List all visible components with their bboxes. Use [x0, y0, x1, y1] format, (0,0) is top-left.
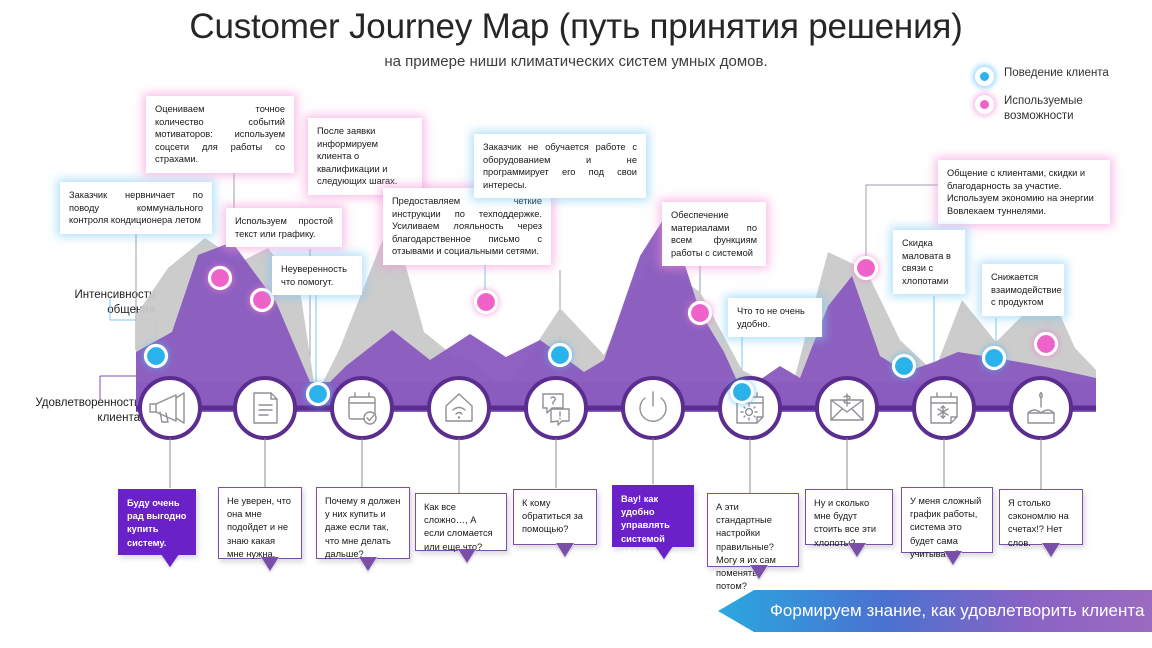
bubble-1-tail	[161, 554, 179, 567]
marker-capability-3[interactable]	[476, 292, 497, 313]
callout-box-12: Снижается взаимодействие с продуктом	[982, 264, 1064, 316]
marker-behavior-6[interactable]	[984, 348, 1005, 369]
bubble-5-text: К кому обратиться за помощью?	[522, 498, 583, 534]
bubble-9-text: У меня сложный график работы, система эт…	[910, 496, 981, 559]
bubble-7: А эти стандартные настройки правильные? …	[707, 493, 799, 567]
bubble-10-text: Я столько сэкономлю на счетах!? Нет слов…	[1008, 498, 1069, 548]
bubble-4-text: Как все сложно…, А если сломается или ещ…	[424, 502, 493, 552]
marker-capability-4[interactable]	[690, 303, 711, 324]
bubble-8-text: Ну и сколько мне будут стоить все эти хл…	[814, 498, 876, 548]
callout-box-10: Общение с клиентами, скидки и благодарно…	[938, 160, 1110, 224]
bubble-8-tail	[848, 544, 866, 557]
bubble-10: Я столько сэкономлю на счетах!? Нет слов…	[999, 489, 1083, 545]
stage-node-1[interactable]	[140, 378, 200, 438]
stage-node-9[interactable]	[914, 378, 974, 438]
bubble-6-tail	[655, 546, 673, 559]
customer-journey-map: Customer Journey Map (путь принятия реше…	[0, 0, 1152, 648]
marker-behavior-4[interactable]	[732, 382, 753, 403]
callout-box-7: Заказчик не обучается работе с оборудова…	[474, 134, 646, 198]
callout-box-8: Обеспечение материалами по всем функциям…	[662, 202, 766, 266]
bubble-2-tail	[261, 558, 279, 571]
marker-behavior-3[interactable]	[550, 345, 571, 366]
callout-box-5: Неуверенность что помогут.	[272, 256, 362, 295]
bubble-stems	[170, 438, 1041, 494]
callout-box-9: Что то не очень удобно.	[728, 298, 822, 337]
bubble-9-tail	[944, 552, 962, 565]
stage-node-2[interactable]	[235, 378, 295, 438]
bubble-3-tail	[359, 558, 377, 571]
banner-text: Формируем знание, как удовлетворить клие…	[718, 601, 1144, 621]
bubble-10-tail	[1042, 544, 1060, 557]
bubble-6: Вау! как удобно управлять системой удале…	[612, 485, 694, 547]
bottom-banner: Формируем знание, как удовлетворить клие…	[718, 590, 1152, 632]
bubble-4-tail	[458, 550, 476, 563]
callout-box-4: После заявки информируем клиента о квали…	[308, 118, 422, 195]
bubble-8: Ну и сколько мне будут стоить все эти хл…	[805, 489, 893, 545]
bubble-1: Буду очень рад выгодно купить систему.	[118, 489, 196, 555]
marker-capability-1[interactable]	[210, 268, 231, 289]
stage-node-6[interactable]	[623, 378, 683, 438]
bubble-5: К кому обратиться за помощью?	[513, 489, 597, 545]
bubble-2: Не уверен, что она мне подойдет и не зна…	[218, 487, 302, 559]
callout-box-3: Используем простой текст или графику.	[226, 208, 342, 247]
callout-box-11: Скидка маловата в связи с хлопотами	[893, 230, 965, 294]
bubble-3: Почему я должен у них купить и даже если…	[316, 487, 410, 559]
bubble-1-text: Буду очень рад выгодно купить систему.	[127, 498, 187, 548]
marker-capability-5[interactable]	[856, 258, 877, 279]
stage-node-3[interactable]	[332, 378, 392, 438]
bubble-4: Как все сложно…, А если сломается или ещ…	[415, 493, 507, 551]
marker-capability-2[interactable]	[252, 290, 273, 311]
marker-behavior-2[interactable]	[308, 384, 329, 405]
stage-node-10[interactable]	[1011, 378, 1071, 438]
marker-capability-6[interactable]	[1036, 334, 1057, 355]
callout-box-1: Заказчик нервничает по поводу коммунальн…	[60, 182, 212, 234]
bubble-5-tail	[556, 544, 574, 557]
bubble-7-tail	[750, 566, 768, 579]
bubble-9: У меня сложный график работы, система эт…	[901, 487, 993, 553]
marker-behavior-5[interactable]	[894, 356, 915, 377]
callout-box-2: Оцениваем точное количество событий моти…	[146, 96, 294, 173]
bubble-3-text: Почему я должен у них купить и даже если…	[325, 496, 400, 559]
marker-behavior-1[interactable]	[146, 346, 167, 367]
callout-box-6: Предоставляем четкие инструкции по техпо…	[383, 188, 551, 265]
bubble-2-text: Не уверен, что она мне подойдет и не зна…	[227, 496, 291, 559]
stage-node-8[interactable]	[817, 378, 877, 438]
